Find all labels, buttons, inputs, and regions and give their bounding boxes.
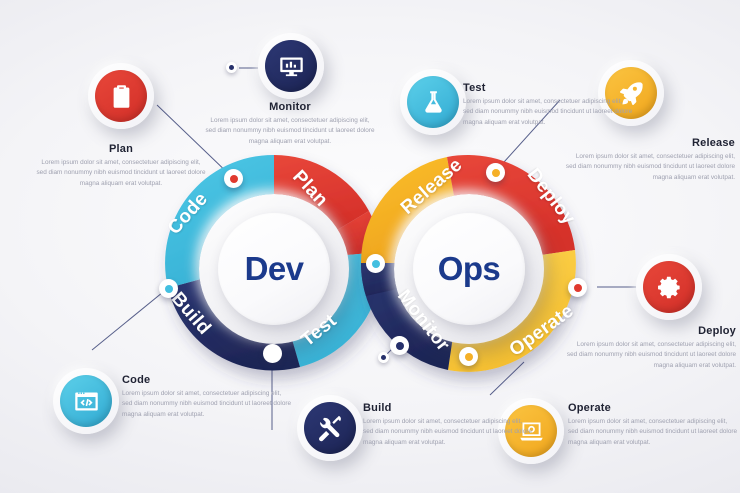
callout-test-text: Lorem ipsum dolor sit amet, consectetuer… xyxy=(463,97,633,128)
node-operate[interactable] xyxy=(459,347,478,366)
callout-plan: Plan Lorem ipsum dolor sit amet, consect… xyxy=(36,143,206,189)
connector-code xyxy=(92,288,168,350)
ops-hub: Ops xyxy=(413,213,525,325)
callout-operate-title: Operate xyxy=(568,402,738,414)
callout-monitor: Monitor Lorem ipsum dolor sit amet, cons… xyxy=(205,101,375,147)
infographic-canvas: Dev Ops Plan Code Build Test Release Dep… xyxy=(0,0,740,493)
node-deploy[interactable] xyxy=(568,278,587,297)
callout-plan-title: Plan xyxy=(36,143,206,155)
badge-monitor[interactable] xyxy=(258,33,324,99)
code-brackets-icon xyxy=(60,375,112,427)
monitor-chart-icon xyxy=(265,40,317,92)
ops-hub-label: Ops xyxy=(438,250,500,288)
callout-monitor-title: Monitor xyxy=(205,101,375,113)
node-plan[interactable] xyxy=(224,169,243,188)
node-monitor[interactable] xyxy=(390,336,409,355)
callout-deploy-text: Lorem ipsum dolor sit amet, consectetuer… xyxy=(566,340,736,371)
callout-operate: Operate Lorem ipsum dolor sit amet, cons… xyxy=(568,402,738,448)
callout-test: Test Lorem ipsum dolor sit amet, consect… xyxy=(463,82,633,128)
callout-deploy-title: Deploy xyxy=(566,325,736,337)
node-test[interactable] xyxy=(366,254,385,273)
badge-plan[interactable] xyxy=(88,63,154,129)
callout-test-title: Test xyxy=(463,82,633,94)
node-code[interactable] xyxy=(159,279,178,298)
callout-build-title: Build xyxy=(363,402,533,414)
clipboard-icon xyxy=(95,70,147,122)
callout-release-text: Lorem ipsum dolor sit amet, consectetuer… xyxy=(565,152,735,183)
callout-release-title: Release xyxy=(565,137,735,149)
dev-hub: Dev xyxy=(218,213,330,325)
callout-code: Code Lorem ipsum dolor sit amet, consect… xyxy=(122,374,292,420)
badge-deploy[interactable] xyxy=(636,254,702,320)
callout-deploy: Deploy Lorem ipsum dolor sit amet, conse… xyxy=(566,325,736,371)
callout-code-title: Code xyxy=(122,374,292,386)
minidot-monitor-top xyxy=(226,62,237,73)
flask-icon xyxy=(407,76,459,128)
callout-operate-text: Lorem ipsum dolor sit amet, consectetuer… xyxy=(568,417,738,448)
callout-build: Build Lorem ipsum dolor sit amet, consec… xyxy=(363,402,533,448)
minidot-monitor-bottom xyxy=(378,352,389,363)
badge-build[interactable] xyxy=(297,395,363,461)
gear-icon xyxy=(643,261,695,313)
node-build[interactable] xyxy=(263,344,282,363)
badge-test[interactable] xyxy=(400,69,466,135)
badge-code[interactable] xyxy=(53,368,119,434)
wrench-screwdriver-icon xyxy=(304,402,356,454)
node-release[interactable] xyxy=(486,163,505,182)
dev-hub-label: Dev xyxy=(245,250,304,288)
callout-monitor-text: Lorem ipsum dolor sit amet, consectetuer… xyxy=(205,116,375,147)
callout-build-text: Lorem ipsum dolor sit amet, consectetuer… xyxy=(363,417,533,448)
callout-release: Release Lorem ipsum dolor sit amet, cons… xyxy=(565,137,735,183)
callout-code-text: Lorem ipsum dolor sit amet, consectetuer… xyxy=(122,389,292,420)
callout-plan-text: Lorem ipsum dolor sit amet, consectetuer… xyxy=(36,158,206,189)
